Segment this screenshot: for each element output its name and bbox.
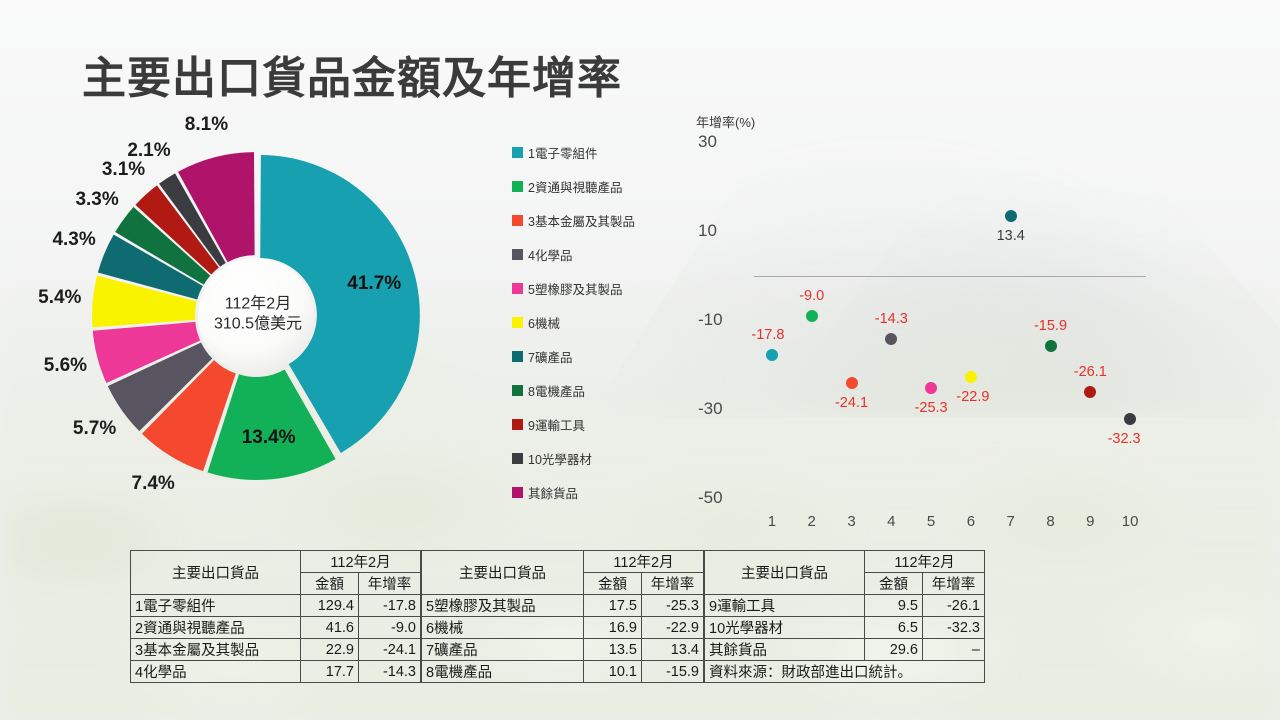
cell-yoy: -15.9 (642, 661, 704, 683)
legend-item-1[interactable]: 1電子零組件 (512, 135, 692, 169)
scatter-xtick-7: 7 (1007, 513, 1015, 530)
donut-center-line1: 112年2月 (214, 295, 302, 315)
donut-slice-label-7: 4.3% (52, 229, 95, 251)
table-row: 4化學品 17.7 -14.3 (131, 661, 421, 683)
cell-name: 4化學品 (131, 661, 301, 683)
scatter-point-label-2: -9.0 (799, 288, 824, 304)
cell-name: 2資通與視聽產品 (131, 617, 301, 639)
cell-yoy: -9.0 (359, 617, 421, 639)
cell-name: 10光學器材 (705, 617, 865, 639)
data-tables: 主要出口貨品 112年2月 金額 年增率 1電子零組件 129.4 -17.8 … (130, 550, 985, 683)
donut-slice-label-8: 3.3% (75, 189, 118, 211)
scatter-point-label-8: -15.9 (1034, 318, 1067, 334)
legend-item-label: 5塑橡膠及其製品 (528, 279, 622, 298)
scatter-ytick-1: 30 (698, 132, 746, 152)
table-row: 3基本金屬及其製品 22.9 -24.1 (131, 639, 421, 661)
donut-slice-label-9: 3.1% (102, 159, 145, 181)
legend-item-6[interactable]: 6機械 (512, 305, 692, 339)
table-row: 9運輸工具 9.5 -26.1 (705, 595, 985, 617)
th-period: 112年2月 (301, 551, 421, 573)
legend-item-label: 6機械 (528, 313, 560, 332)
cell-name: 1電子零組件 (131, 595, 301, 617)
table-row: 8電機產品 10.1 -15.9 (422, 661, 704, 683)
table-block-3: 主要出口貨品 112年2月 金額 年增率 9運輸工具 9.5 -26.1 10光… (704, 550, 985, 683)
th-product: 主要出口貨品 (131, 551, 301, 595)
chart-legend: 1電子零組件2資通與視聽產品3基本金屬及其製品4化學品5塑橡膠及其製品6機械7礦… (512, 135, 692, 509)
cell-name: 其餘貨品 (705, 639, 865, 661)
scatter-xtick-5: 5 (927, 513, 935, 530)
scatter-point-7[interactable] (1005, 210, 1017, 222)
scatter-point-label-5: -25.3 (915, 400, 948, 416)
scatter-ytick-2: 10 (698, 221, 746, 241)
page-title: 主要出口貨品金額及年增率 (82, 42, 622, 106)
scatter-zero-line (754, 276, 1146, 277)
donut-slice-label-5: 5.6% (44, 355, 87, 377)
th-period: 112年2月 (865, 551, 985, 573)
scatter-point-3[interactable] (846, 377, 858, 389)
scatter-ytick-3: -10 (698, 310, 746, 330)
scatter-point-label-6: -22.9 (956, 389, 989, 405)
scatter-xtick-8: 8 (1046, 513, 1054, 530)
scatter-xtick-6: 6 (967, 513, 975, 530)
donut-chart: 112年2月 310.5億美元 41.7%13.4%7.4%5.7%5.6%5.… (88, 120, 428, 510)
cell-name: 3基本金屬及其製品 (131, 639, 301, 661)
cell-amount: 17.5 (584, 595, 642, 617)
th-yoy: 年增率 (359, 573, 421, 595)
donut-slice-label-1: 41.7% (347, 273, 401, 295)
th-product: 主要出口貨品 (422, 551, 584, 595)
legend-swatch-icon (512, 249, 523, 260)
scatter-point-6[interactable] (965, 371, 977, 383)
table-header-row: 主要出口貨品 112年2月 (705, 551, 985, 573)
cell-amount: 22.9 (301, 639, 359, 661)
legend-item-label: 2資通與視聽產品 (528, 177, 622, 196)
donut-slice-label-3: 7.4% (132, 473, 175, 495)
scatter-point-5[interactable] (925, 382, 937, 394)
scatter-axis-title: 年增率(%) (696, 112, 755, 131)
legend-item-9[interactable]: 9運輸工具 (512, 407, 692, 441)
cell-amount: 129.4 (301, 595, 359, 617)
cell-amount: 6.5 (865, 617, 923, 639)
legend-item-label: 1電子零組件 (528, 143, 597, 162)
scatter-xtick-3: 3 (847, 513, 855, 530)
scatter-point-4[interactable] (885, 333, 897, 345)
legend-item-2[interactable]: 2資通與視聽產品 (512, 169, 692, 203)
scatter-point-label-9: -26.1 (1074, 364, 1107, 380)
legend-item-11[interactable]: 其餘貨品 (512, 475, 692, 509)
table-row: 7礦產品 13.5 13.4 (422, 639, 704, 661)
scatter-point-label-10: -32.3 (1108, 431, 1141, 447)
legend-item-8[interactable]: 8電機產品 (512, 373, 692, 407)
table-row: 10光學器材 6.5 -32.3 (705, 617, 985, 639)
legend-swatch-icon (512, 147, 523, 158)
donut-slice-label-10: 2.1% (127, 140, 170, 162)
cell-amount: 17.7 (301, 661, 359, 683)
legend-item-label: 其餘貨品 (528, 483, 578, 502)
legend-swatch-icon (512, 419, 523, 430)
legend-swatch-icon (512, 283, 523, 294)
cell-name: 7礦產品 (422, 639, 584, 661)
scatter-point-label-7: 13.4 (997, 228, 1025, 244)
cell-yoy: – (923, 639, 985, 661)
scatter-xtick-10: 10 (1122, 513, 1139, 530)
th-amount: 金額 (865, 573, 923, 595)
scatter-point-label-3: -24.1 (835, 395, 868, 411)
th-yoy: 年增率 (923, 573, 985, 595)
th-yoy: 年增率 (642, 573, 704, 595)
table-row: 6機械 16.9 -22.9 (422, 617, 704, 639)
cell-yoy: -14.3 (359, 661, 421, 683)
legend-item-label: 3基本金屬及其製品 (528, 211, 635, 230)
donut-center-line2: 310.5億美元 (214, 315, 302, 335)
cell-amount: 10.1 (584, 661, 642, 683)
donut-center-label: 112年2月 310.5億美元 (214, 295, 302, 336)
legend-item-label: 4化學品 (528, 245, 572, 264)
cell-amount: 41.6 (301, 617, 359, 639)
cell-amount: 9.5 (865, 595, 923, 617)
cell-yoy: -32.3 (923, 617, 985, 639)
cell-amount: 13.5 (584, 639, 642, 661)
legend-swatch-icon (512, 181, 523, 192)
table-row: 2資通與視聽產品 41.6 -9.0 (131, 617, 421, 639)
scatter-point-10[interactable] (1124, 413, 1136, 425)
legend-swatch-icon (512, 215, 523, 226)
cell-yoy: -24.1 (359, 639, 421, 661)
legend-item-10[interactable]: 10光學器材 (512, 441, 692, 475)
cell-name: 9運輸工具 (705, 595, 865, 617)
donut-slice-label-2: 13.4% (242, 427, 296, 449)
table-block-2: 主要出口貨品 112年2月 金額 年增率 5塑橡膠及其製品 17.5 -25.3… (421, 550, 704, 683)
scatter-xtick-2: 2 (808, 513, 816, 530)
legend-swatch-icon (512, 453, 523, 464)
scatter-point-1[interactable] (766, 349, 778, 361)
source-note: 資料來源：財政部進出口統計。 (705, 661, 985, 683)
scatter-xtick-1: 1 (768, 513, 776, 530)
legend-item-4[interactable]: 4化學品 (512, 237, 692, 271)
legend-item-label: 9運輸工具 (528, 415, 585, 434)
scatter-point-9[interactable] (1084, 386, 1096, 398)
cell-amount: 16.9 (584, 617, 642, 639)
th-amount: 金額 (584, 573, 642, 595)
legend-item-label: 7礦產品 (528, 347, 572, 366)
cell-yoy: 13.4 (642, 639, 704, 661)
th-amount: 金額 (301, 573, 359, 595)
cell-yoy: -25.3 (642, 595, 704, 617)
scatter-point-2[interactable] (806, 310, 818, 322)
table-row: 5塑橡膠及其製品 17.5 -25.3 (422, 595, 704, 617)
legend-swatch-icon (512, 487, 523, 498)
legend-item-label: 8電機產品 (528, 381, 585, 400)
donut-slice-label-11: 8.1% (185, 114, 228, 136)
table-source-row: 資料來源：財政部進出口統計。 (705, 661, 985, 683)
legend-item-3[interactable]: 3基本金屬及其製品 (512, 203, 692, 237)
legend-swatch-icon (512, 351, 523, 362)
legend-item-7[interactable]: 7礦產品 (512, 339, 692, 373)
legend-swatch-icon (512, 385, 523, 396)
donut-slice-label-6: 5.4% (38, 287, 81, 309)
table-header-row: 主要出口貨品 112年2月 (131, 551, 421, 573)
scatter-point-8[interactable] (1045, 340, 1057, 352)
th-period: 112年2月 (584, 551, 704, 573)
scatter-ytick-4: -30 (698, 399, 746, 419)
scatter-point-label-1: -17.8 (751, 327, 784, 343)
scatter-point-label-4: -14.3 (875, 311, 908, 327)
table-header-row: 主要出口貨品 112年2月 (422, 551, 704, 573)
legend-item-5[interactable]: 5塑橡膠及其製品 (512, 271, 692, 305)
scatter-xtick-4: 4 (887, 513, 895, 530)
scatter-ytick-5: -50 (698, 488, 746, 508)
scatter-chart: 年增率(%) 3010-10-30-5012345678910-17.8-9.0… (690, 112, 1168, 532)
donut-slice-label-4: 5.7% (73, 418, 116, 440)
table-row: 其餘貨品 29.6 – (705, 639, 985, 661)
legend-swatch-icon (512, 317, 523, 328)
legend-item-label: 10光學器材 (528, 449, 592, 468)
cell-yoy: -22.9 (642, 617, 704, 639)
cell-amount: 29.6 (865, 639, 923, 661)
cell-name: 5塑橡膠及其製品 (422, 595, 584, 617)
cell-name: 8電機產品 (422, 661, 584, 683)
scatter-xtick-9: 9 (1086, 513, 1094, 530)
table-block-1: 主要出口貨品 112年2月 金額 年增率 1電子零組件 129.4 -17.8 … (130, 550, 421, 683)
cell-yoy: -26.1 (923, 595, 985, 617)
cell-name: 6機械 (422, 617, 584, 639)
cell-yoy: -17.8 (359, 595, 421, 617)
th-product: 主要出口貨品 (705, 551, 865, 595)
table-row: 1電子零組件 129.4 -17.8 (131, 595, 421, 617)
